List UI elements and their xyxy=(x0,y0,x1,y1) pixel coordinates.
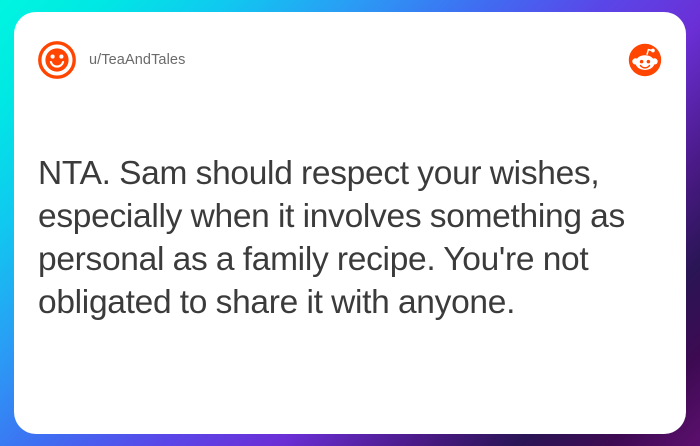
author-username: u/TeaAndTales xyxy=(89,52,185,68)
reddit-snoo-logo-icon[interactable] xyxy=(628,43,662,77)
smiley-face-avatar-icon xyxy=(38,41,76,79)
gradient-background: u/TeaAndTales NTA. Sam sho xyxy=(0,0,700,446)
author-block[interactable]: u/TeaAndTales xyxy=(38,41,185,79)
card-body: NTA. Sam should respect your wishes, esp… xyxy=(38,152,664,324)
comment-text: NTA. Sam should respect your wishes, esp… xyxy=(38,152,664,324)
card-header: u/TeaAndTales xyxy=(14,12,686,108)
reddit-comment-card: u/TeaAndTales NTA. Sam sho xyxy=(14,12,686,434)
